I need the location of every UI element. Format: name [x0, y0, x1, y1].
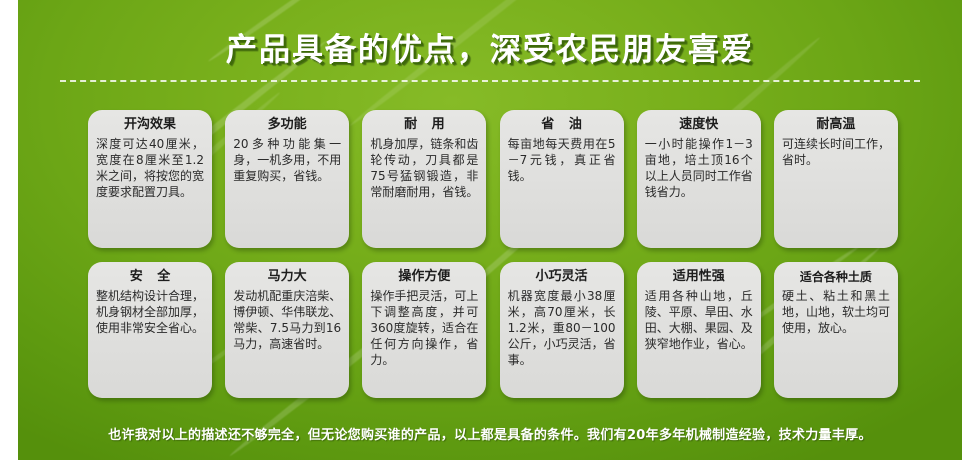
feature-card-body: 每亩地每天费用在5－7元钱，真正省钱。: [508, 136, 616, 184]
feature-card-title: 小巧灵活: [508, 269, 616, 285]
feature-card-title: 适用性强: [645, 269, 753, 285]
feature-card-body: 一小时能操作1－3亩地，培土顶16个以上人员同时工作省钱省力。: [645, 136, 753, 200]
feature-card[interactable]: 速度快 一小时能操作1－3亩地，培土顶16个以上人员同时工作省钱省力。: [637, 110, 761, 248]
infographic-stage: 产品具备的优点，深受农民朋友喜爱 开沟效果 深度可达40厘米，宽度在8厘米至1.…: [0, 0, 980, 460]
feature-card-body: 可连续长时间工作，省时。: [782, 136, 890, 168]
feature-card-title: 省 油: [508, 117, 616, 133]
feature-card[interactable]: 开沟效果 深度可达40厘米，宽度在8厘米至1.2米之间，将按您的宽度要求配置刀具…: [88, 110, 212, 248]
feature-card[interactable]: 耐高温 可连续长时间工作，省时。: [774, 110, 898, 248]
dashed-divider: [60, 80, 920, 82]
feature-card-title: 速度快: [645, 117, 753, 133]
feature-card-title: 开沟效果: [96, 117, 204, 133]
feature-card-row-2: 安 全 整机结构设计合理，机身钢材全部加厚，使用非常安全省心。 马力大 发动机配…: [88, 262, 898, 398]
feature-card-row-1: 开沟效果 深度可达40厘米，宽度在8厘米至1.2米之间，将按您的宽度要求配置刀具…: [88, 110, 898, 248]
feature-card-body: 整机结构设计合理，机身钢材全部加厚，使用非常安全省心。: [96, 288, 204, 336]
page-title: 产品具备的优点，深受农民朋友喜爱: [18, 24, 962, 69]
feature-card-body: 操作手把灵活，可上下调整高度，并可360度旋转，适合在任何方向操作，省力。: [370, 288, 478, 368]
feature-card-body: 机身加厚，链条和齿轮传动，刀具都是75号猛钢锻造，非常耐磨耐用，省钱。: [370, 136, 478, 200]
feature-card-title: 安 全: [96, 269, 204, 285]
feature-card-title: 马力大: [233, 269, 341, 285]
footer-text: 也许我对以上的描述还不够完全，但无论您购买谁的产品，以上都是具备的条件。我们有2…: [18, 424, 962, 443]
feature-card-title: 耐 用: [370, 117, 478, 133]
feature-card[interactable]: 马力大 发动机配重庆涪柴、博伊顿、华伟联龙、常柴、7.5马力到16马力，高速省时…: [225, 262, 349, 398]
feature-card-title: 耐高温: [782, 117, 890, 133]
feature-card-body: 深度可达40厘米，宽度在8厘米至1.2米之间，将按您的宽度要求配置刀具。: [96, 136, 204, 200]
feature-card[interactable]: 耐 用 机身加厚，链条和齿轮传动，刀具都是75号猛钢锻造，非常耐磨耐用，省钱。: [362, 110, 486, 248]
green-background-panel: 产品具备的优点，深受农民朋友喜爱 开沟效果 深度可达40厘米，宽度在8厘米至1.…: [18, 0, 962, 460]
feature-card-title: 操作方便: [370, 269, 478, 285]
feature-card[interactable]: 操作方便 操作手把灵活，可上下调整高度，并可360度旋转，适合在任何方向操作，省…: [362, 262, 486, 398]
feature-card-body: 硬土、粘土和黑土地，山地，软土均可使用，放心。: [782, 288, 890, 336]
feature-card[interactable]: 适合各种土质 硬土、粘土和黑土地，山地，软土均可使用，放心。: [774, 262, 898, 398]
feature-card-body: 20多种功能集一身，一机多用，不用重复购买，省钱。: [233, 136, 341, 184]
feature-card-body: 发动机配重庆涪柴、博伊顿、华伟联龙、常柴、7.5马力到16马力，高速省时。: [233, 288, 341, 352]
feature-card[interactable]: 省 油 每亩地每天费用在5－7元钱，真正省钱。: [500, 110, 624, 248]
feature-card-body: 适用各种山地，丘陵、平原、旱田、水田、大棚、果园、及狭窄地作业，省心。: [645, 288, 753, 352]
feature-card[interactable]: 小巧灵活 机器宽度最小38厘米，高70厘米，长1.2米，重80－100公斤，小巧…: [500, 262, 624, 398]
feature-card[interactable]: 安 全 整机结构设计合理，机身钢材全部加厚，使用非常安全省心。: [88, 262, 212, 398]
feature-card[interactable]: 多功能 20多种功能集一身，一机多用，不用重复购买，省钱。: [225, 110, 349, 248]
feature-card-title: 多功能: [233, 117, 341, 133]
feature-card-title: 适合各种土质: [782, 269, 890, 285]
feature-card-body: 机器宽度最小38厘米，高70厘米，长1.2米，重80－100公斤，小巧灵活，省事…: [508, 288, 616, 368]
feature-card[interactable]: 适用性强 适用各种山地，丘陵、平原、旱田、水田、大棚、果园、及狭窄地作业，省心。: [637, 262, 761, 398]
